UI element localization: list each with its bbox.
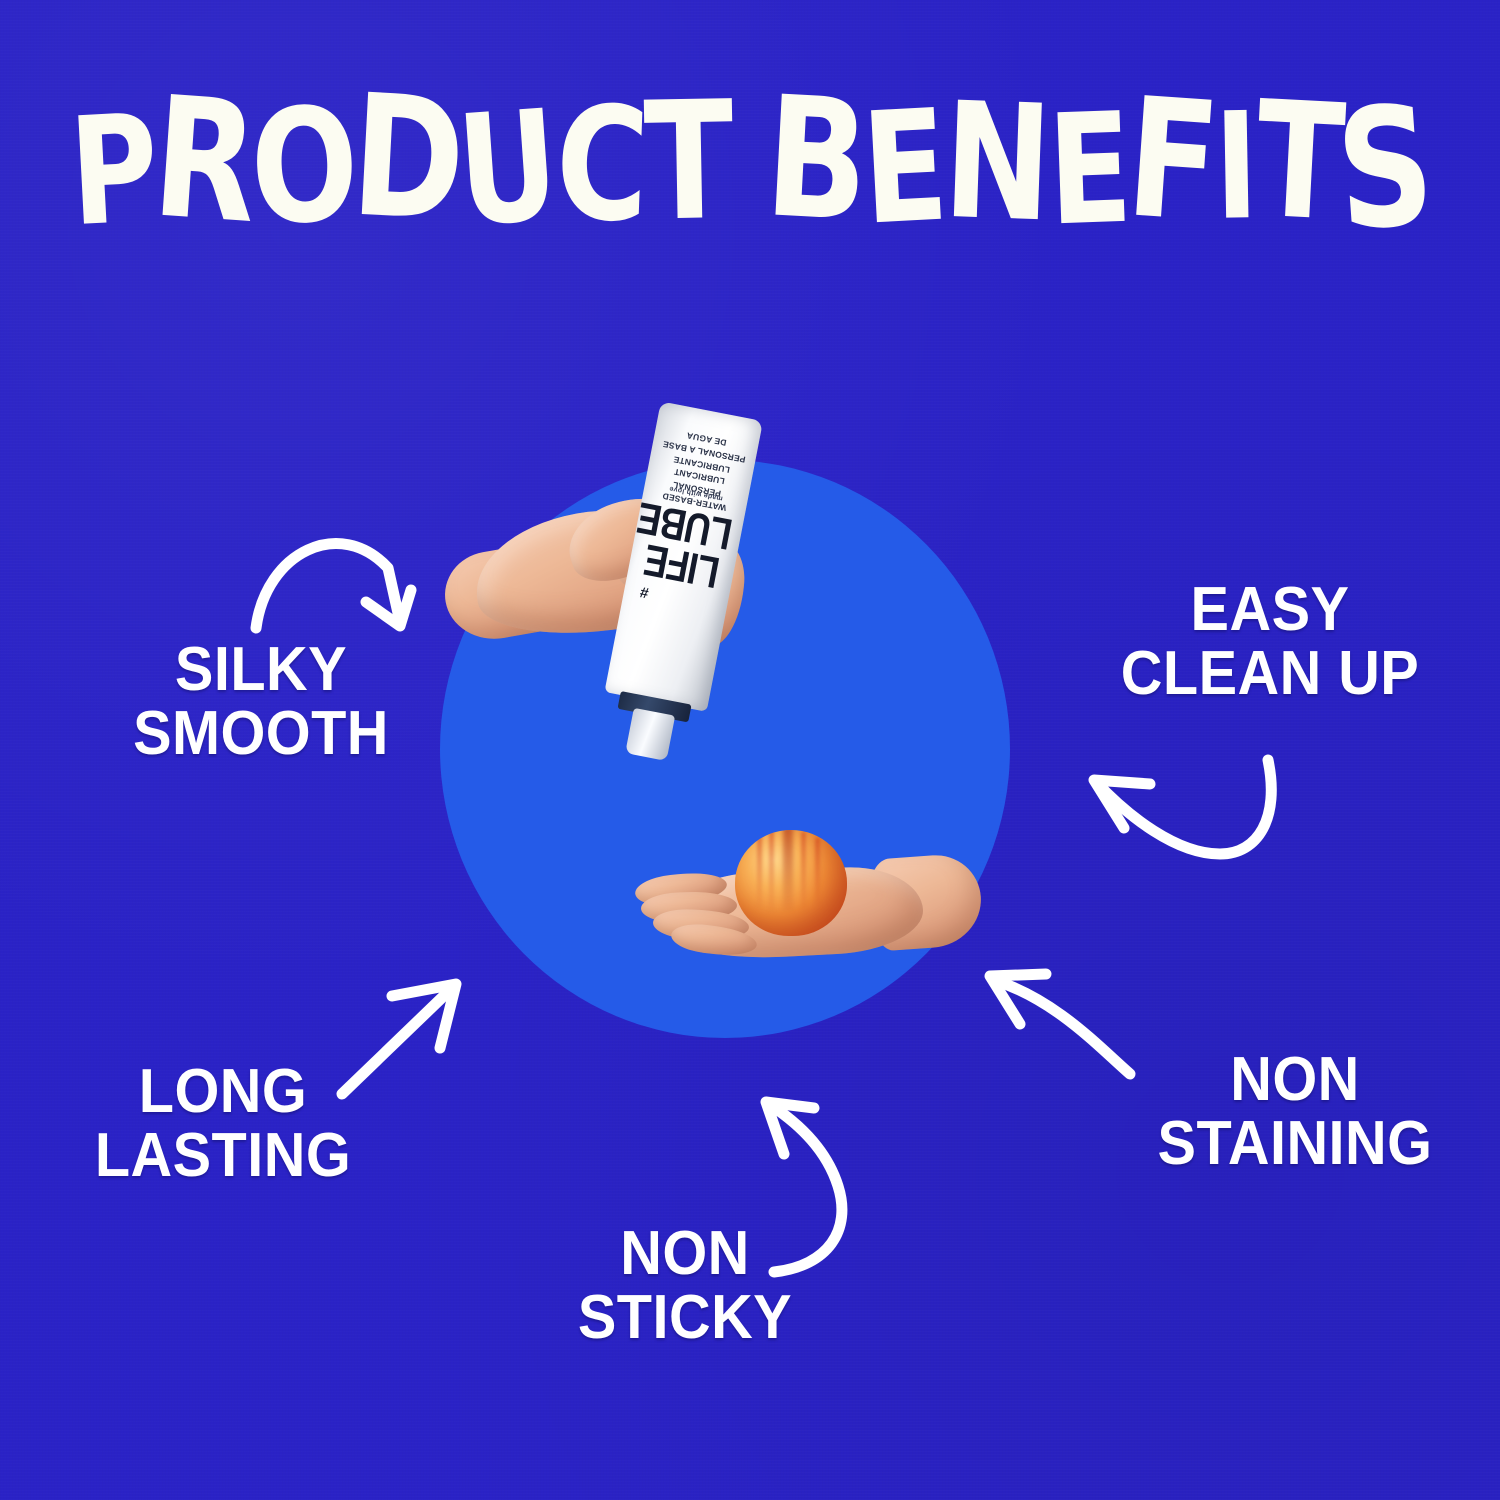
title-letter: T (643, 81, 736, 246)
curved-arrow-down-right-icon (248, 510, 433, 645)
benefit-label-easy-clean-up: EASY CLEAN UP (1080, 578, 1460, 707)
peach-cleft (783, 830, 793, 910)
curved-arrow-up-left-icon (980, 958, 1140, 1083)
benefit-line: LASTING (70, 1124, 377, 1188)
peach-streak (769, 830, 774, 912)
benefit-label-non-staining: NON STAINING (1120, 1048, 1470, 1177)
benefit-line: SILKY (108, 638, 415, 702)
benefit-line: STICKY (569, 1286, 802, 1350)
benefit-line: EASY (1093, 578, 1446, 642)
title-letter: F (1122, 77, 1225, 248)
title-letter: E (1046, 94, 1136, 249)
benefit-line: CLEAN UP (1093, 642, 1446, 706)
peach-icon (735, 830, 847, 936)
peach-streak (815, 838, 820, 908)
title-letter: S (1332, 85, 1440, 256)
peach-streak (757, 834, 762, 908)
straight-arrow-up-right-icon (330, 970, 480, 1105)
hook-arrow-up-left-icon (752, 1090, 882, 1280)
benefit-line: NON (1132, 1048, 1458, 1112)
title-letter: O (249, 88, 362, 248)
title-letter: B (762, 75, 873, 246)
title-letter: D (348, 73, 470, 246)
title-letter: U (453, 91, 564, 250)
title-letter: R (149, 75, 264, 248)
bottle-brand: LIFE LUBE (627, 496, 745, 595)
benefit-line: STAINING (1132, 1112, 1458, 1176)
product-photo: WATER-BASED PERSONAL LUBRICANT LUBRICANT… (435, 400, 1010, 1050)
title-letter: C (554, 86, 653, 246)
title-letter: N (941, 82, 1055, 246)
title-letter: E (859, 90, 952, 248)
hand-holding-peach-icon (635, 830, 965, 980)
benefit-line: SMOOTH (108, 702, 415, 766)
bottle-nozzle (625, 708, 675, 761)
curved-arrow-up-left-icon (1080, 750, 1290, 890)
peach-streak (801, 832, 806, 912)
page-title: PRODUCT BENEFITS (0, 96, 1500, 236)
product-benefits-infographic: PRODUCT BENEFITS WATER-BASED PERSONAL LU… (0, 0, 1500, 1500)
bottle-hash-mark: # (639, 583, 650, 601)
benefit-label-silky-smooth: SILKY SMOOTH (96, 638, 426, 767)
